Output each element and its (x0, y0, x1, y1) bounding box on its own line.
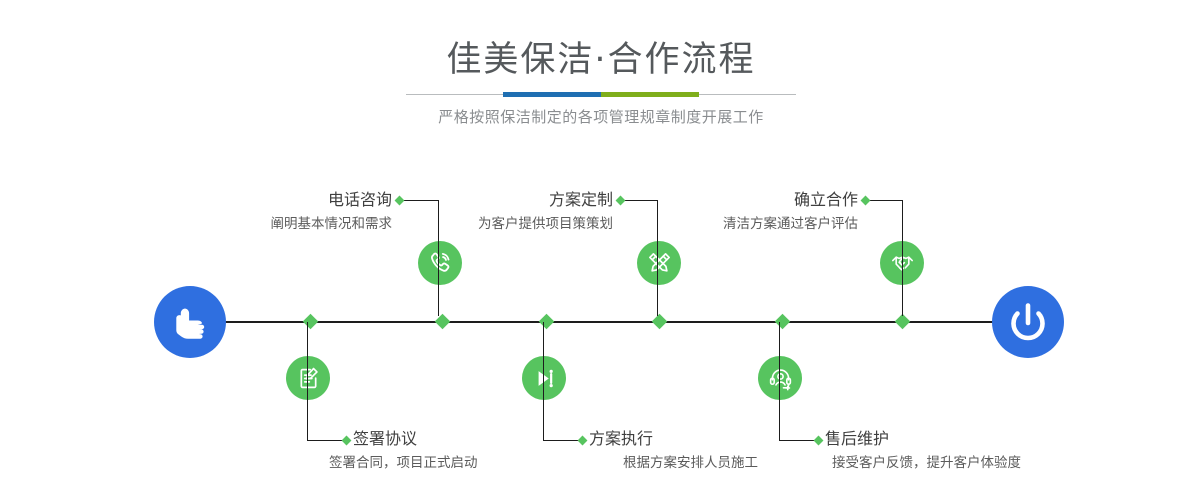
step-connector-4 (543, 322, 544, 440)
pointing-hand-icon (154, 286, 226, 358)
title-divider (406, 92, 796, 98)
step-title-4: 方案执行 (589, 430, 653, 448)
power-icon (992, 286, 1064, 358)
step-leader-4 (543, 440, 581, 441)
step-desc-4: 根据方案安排人员施工 (623, 455, 758, 471)
step-leader-dot-6 (814, 436, 824, 446)
step-leader-dot-5 (861, 196, 871, 206)
axis-marker (435, 314, 451, 330)
play-execute-icon (531, 365, 558, 392)
step-leader-6 (779, 440, 817, 441)
step-title-6: 售后维护 (825, 430, 889, 448)
step-connector-6 (779, 322, 780, 440)
step-leader-dot-4 (578, 436, 588, 446)
axis-marker (303, 314, 319, 330)
step-desc-5: 清洁方案通过客户评估 (636, 216, 858, 232)
document-sign-icon (295, 365, 322, 392)
axis-marker (895, 314, 911, 330)
flow-start-badge (154, 286, 226, 358)
flow-end-badge (992, 286, 1064, 358)
step-desc-6: 接受客户反馈，提升客户体验度 (832, 455, 1021, 471)
step-connector-2 (307, 322, 308, 440)
headset-support-icon (767, 365, 794, 392)
divider-segment-green (601, 92, 699, 97)
divider-segment-blue (503, 92, 601, 97)
step-leader-dot-2 (342, 436, 352, 446)
step-node-1[interactable] (418, 241, 462, 285)
page-title: 佳美保洁·合作流程 (0, 38, 1202, 82)
step-node-2[interactable] (286, 356, 330, 400)
process-flow-infographic: 佳美保洁·合作流程 严格按照保洁制定的各项管理规章制度开展工作 (0, 0, 1202, 502)
step-leader-dot-3 (616, 196, 626, 206)
step-desc-1: 阐明基本情况和需求 (170, 216, 392, 232)
step-title-5: 确立合作 (662, 191, 858, 209)
step-title-3: 方案定制 (417, 191, 613, 209)
step-leader-3 (621, 200, 657, 201)
step-leader-2 (307, 440, 345, 441)
phone-call-icon (426, 249, 454, 277)
step-title-1: 电话咨询 (196, 191, 392, 209)
step-leader-5 (866, 200, 902, 201)
page-subtitle: 严格按照保洁制定的各项管理规章制度开展工作 (0, 106, 1202, 127)
step-desc-3: 为客户提供项目策策划 (391, 216, 613, 232)
axis-marker (539, 314, 555, 330)
step-node-6[interactable] (758, 356, 802, 400)
axis-marker (652, 314, 668, 330)
axis-marker (775, 314, 791, 330)
pencil-ruler-icon (646, 250, 673, 277)
step-leader-dot-1 (395, 196, 405, 206)
step-node-3[interactable] (637, 241, 681, 285)
step-title-2: 签署协议 (353, 430, 417, 448)
step-node-4[interactable] (522, 356, 566, 400)
step-connector-5 (902, 200, 903, 316)
step-desc-2: 签署合同，项目正式启动 (329, 455, 478, 471)
